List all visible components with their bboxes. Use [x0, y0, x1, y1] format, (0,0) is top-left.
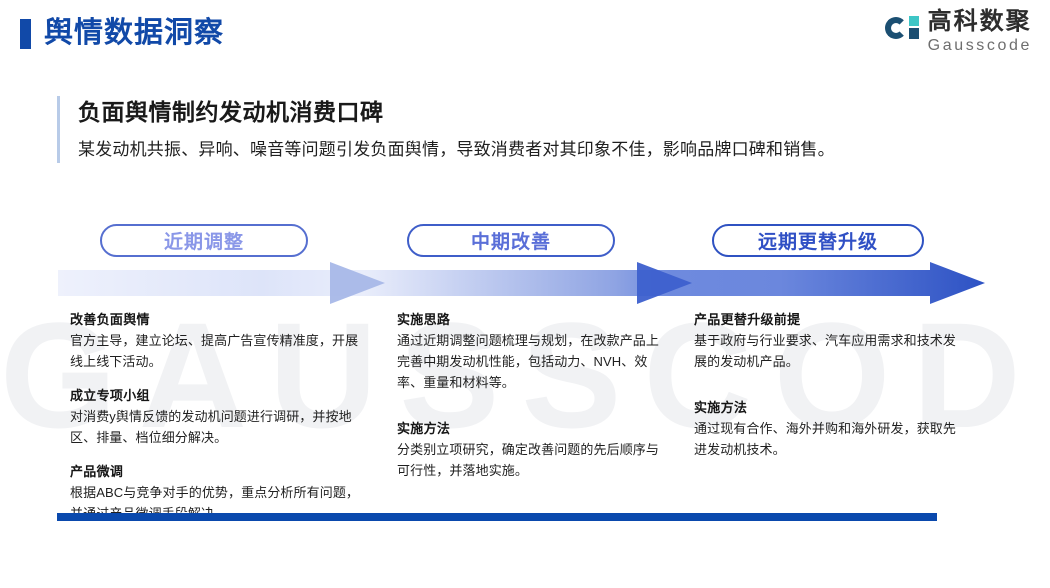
logo-dark-square-shape: [909, 28, 919, 39]
detail-body: 对消费y舆情反馈的发动机问题进行调研，并按地区、排量、档位细分解决。: [70, 406, 360, 448]
slide-canvas: GAUSSCODE 舆情数据洞察 高科数聚 Gausscode 负面舆情制约发动…: [0, 0, 1050, 588]
detail-block: 改善负面舆情 官方主导，建立论坛、提高广告宣传精准度，开展线上线下活动。: [70, 310, 360, 372]
arrow-band-shape: [58, 262, 985, 304]
logo-wordmark: 高科数聚 Gausscode: [928, 10, 1032, 54]
detail-body: 基于政府与行业要求、汽车应用需求和技术发展的发动机产品。: [694, 330, 966, 372]
timeline-phase-labels: 近期调整 中期改善 远期更替升级: [0, 224, 1050, 258]
detail-heading: 产品更替升级前提: [694, 310, 966, 330]
timeline-arrow-graphic: [0, 262, 1050, 304]
detail-heading: 产品微调: [70, 462, 360, 482]
logo-name-en: Gausscode: [928, 38, 1032, 54]
detail-body: 通过近期调整问题梳理与规划，在改款产品上完善中期发动机性能，包括动力、NVH、效…: [397, 330, 667, 393]
phase-pill-near-term[interactable]: 近期调整: [100, 224, 308, 257]
header-accent-bar: [20, 19, 31, 49]
phase-pill-mid-term[interactable]: 中期改善: [407, 224, 615, 257]
logo-ring-shape: [885, 17, 907, 39]
column-near-term: 改善负面舆情 官方主导，建立论坛、提高广告宣传精准度，开展线上线下活动。 成立专…: [70, 310, 360, 524]
arrow-chevron-2: [637, 262, 692, 304]
timeline-arrow: [0, 262, 1050, 304]
detail-block: 产品更替升级前提 基于政府与行业要求、汽车应用需求和技术发展的发动机产品。: [694, 310, 966, 372]
logo-name-cn: 高科数聚: [928, 10, 1032, 34]
column-long-term: 产品更替升级前提 基于政府与行业要求、汽车应用需求和技术发展的发动机产品。 实施…: [694, 310, 966, 460]
phase-pill-long-term[interactable]: 远期更替升级: [712, 224, 924, 257]
brand-logo: 高科数聚 Gausscode: [885, 10, 1032, 54]
detail-block: 实施思路 通过近期调整问题梳理与规划，在改款产品上完善中期发动机性能，包括动力、…: [397, 310, 667, 393]
logo-teal-square-shape: [909, 16, 919, 26]
detail-block: 成立专项小组 对消费y舆情反馈的发动机问题进行调研，并按地区、排量、档位细分解决…: [70, 386, 360, 448]
detail-heading: 成立专项小组: [70, 386, 360, 406]
arrow-chevron-1: [330, 262, 385, 304]
detail-block: 实施方法 分类别立项研究，确定改善问题的先后顺序与可行性，并落地实施。: [397, 419, 667, 481]
slide-header: 舆情数据洞察 高科数聚 Gausscode: [0, 0, 1050, 72]
gausscode-mark-icon: [885, 15, 919, 49]
detail-heading: 实施方法: [397, 419, 667, 439]
footer-accent-bar: [57, 513, 937, 521]
page-title: 舆情数据洞察: [44, 13, 224, 53]
detail-heading: 实施方法: [694, 398, 966, 418]
intro-title: 负面舆情制约发动机消费口碑: [78, 96, 1007, 128]
column-mid-term: 实施思路 通过近期调整问题梳理与规划，在改款产品上完善中期发动机性能，包括动力、…: [397, 310, 667, 481]
intro-subtitle: 某发动机共振、异响、噪音等问题引发负面舆情，导致消费者对其印象不佳，影响品牌口碑…: [78, 137, 1007, 163]
detail-body: 官方主导，建立论坛、提高广告宣传精准度，开展线上线下活动。: [70, 330, 360, 372]
detail-block: 实施方法 通过现有合作、海外并购和海外研发，获取先进发动机技术。: [694, 398, 966, 460]
detail-body: 分类别立项研究，确定改善问题的先后顺序与可行性，并落地实施。: [397, 439, 667, 481]
detail-heading: 改善负面舆情: [70, 310, 360, 330]
intro-block: 负面舆情制约发动机消费口碑 某发动机共振、异响、噪音等问题引发负面舆情，导致消费…: [57, 96, 1007, 163]
detail-body: 通过现有合作、海外并购和海外研发，获取先进发动机技术。: [694, 418, 966, 460]
detail-heading: 实施思路: [397, 310, 667, 330]
